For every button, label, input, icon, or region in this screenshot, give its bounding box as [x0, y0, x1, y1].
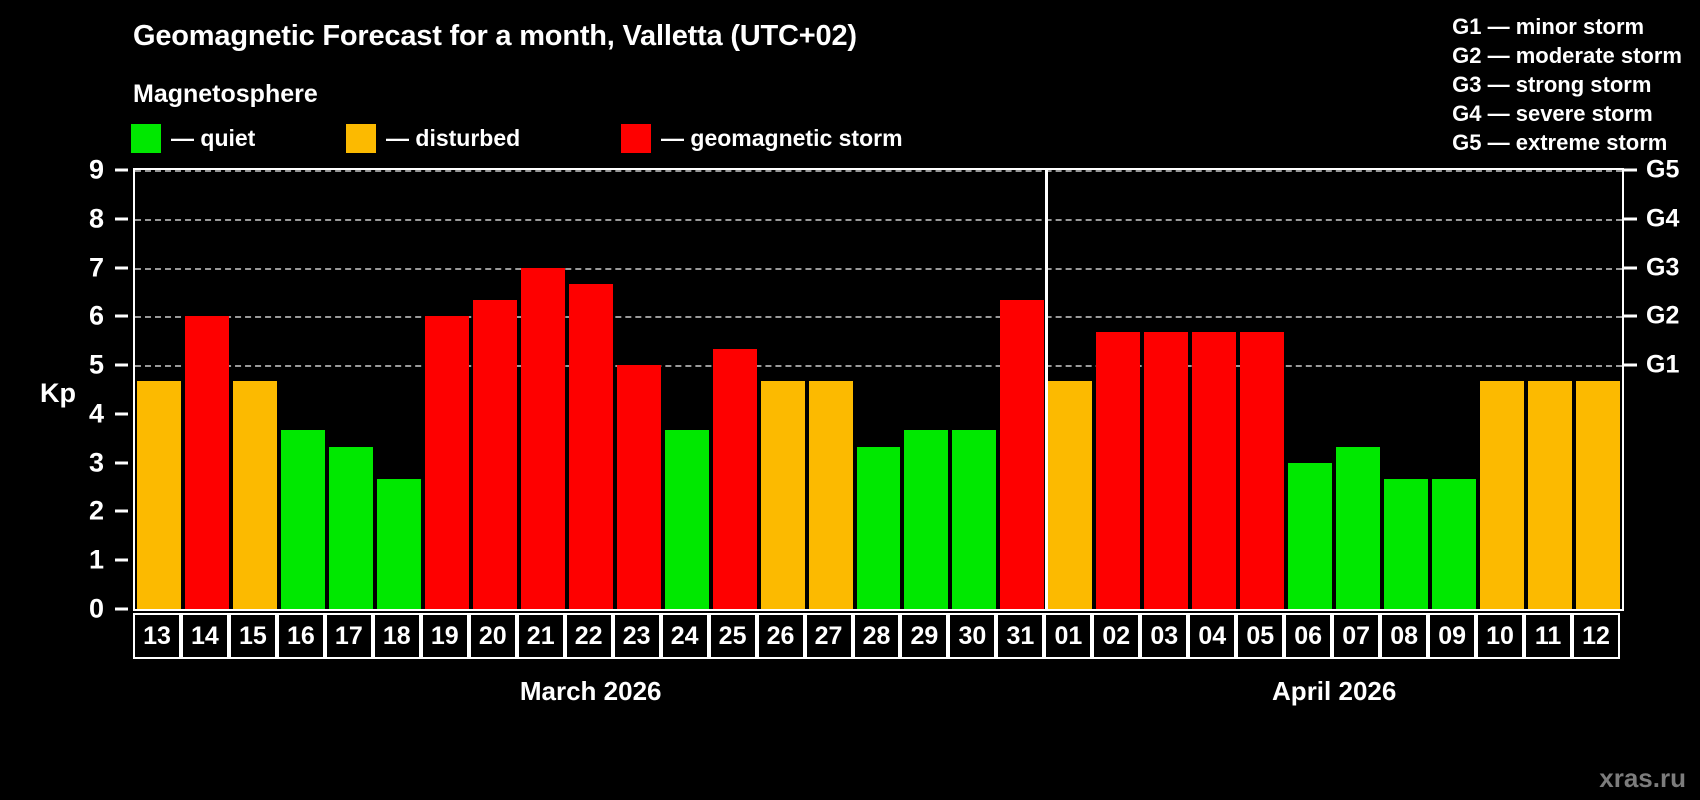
magnetosphere-label: Magnetosphere	[133, 80, 318, 109]
day-cell-27[interactable]: 27	[805, 613, 853, 659]
bar-03[interactable]	[1144, 332, 1188, 609]
bar-24[interactable]	[665, 430, 709, 609]
bars-layer	[135, 170, 1622, 609]
day-cell-05[interactable]: 05	[1236, 613, 1284, 659]
day-cell-28[interactable]: 28	[853, 613, 901, 659]
day-cell-16[interactable]: 16	[277, 613, 325, 659]
g-scale-legend: G1 — minor stormG2 — moderate stormG3 — …	[1452, 12, 1682, 157]
y-axis-labels: 0123456789	[0, 168, 128, 611]
bar-01[interactable]	[1048, 381, 1092, 609]
y-tick-mark-8	[115, 217, 128, 220]
y-tick-label-1: 1	[89, 545, 104, 576]
bar-27[interactable]	[809, 381, 853, 609]
day-cell-26[interactable]: 26	[757, 613, 805, 659]
y-tick-label-0: 0	[89, 594, 104, 625]
day-cell-18[interactable]: 18	[373, 613, 421, 659]
bar-28[interactable]	[857, 447, 901, 609]
g-axis-labels: G1G2G3G4G5	[1624, 168, 1700, 611]
g-axis-label-G3: G3	[1646, 253, 1679, 282]
bar-02[interactable]	[1096, 332, 1140, 609]
bar-31[interactable]	[1000, 300, 1044, 609]
g-axis-tick-G4	[1624, 217, 1637, 220]
bar-22[interactable]	[569, 284, 613, 609]
day-cell-02[interactable]: 02	[1092, 613, 1140, 659]
legend-item-storm: — geomagnetic storm	[621, 124, 903, 153]
bar-25[interactable]	[713, 349, 757, 609]
day-cell-13[interactable]: 13	[133, 613, 181, 659]
y-tick-mark-6	[115, 315, 128, 318]
legend-label-quiet: — quiet	[171, 124, 255, 153]
day-cell-25[interactable]: 25	[709, 613, 757, 659]
g-axis-tick-G2	[1624, 315, 1637, 318]
day-cell-01[interactable]: 01	[1044, 613, 1092, 659]
legend-swatch-disturbed-icon	[346, 124, 376, 153]
y-tick-mark-4	[115, 412, 128, 415]
day-cell-08[interactable]: 08	[1380, 613, 1428, 659]
day-cell-10[interactable]: 10	[1476, 613, 1524, 659]
y-tick-label-3: 3	[89, 447, 104, 478]
day-cell-04[interactable]: 04	[1188, 613, 1236, 659]
y-tick-mark-9	[115, 169, 128, 172]
day-cell-23[interactable]: 23	[613, 613, 661, 659]
day-cell-29[interactable]: 29	[900, 613, 948, 659]
legend-swatch-storm-icon	[621, 124, 651, 153]
bar-04[interactable]	[1192, 332, 1236, 609]
y-tick-label-7: 7	[89, 252, 104, 283]
day-cell-12[interactable]: 12	[1572, 613, 1620, 659]
watermark: xras.ru	[1599, 763, 1686, 794]
day-cell-15[interactable]: 15	[229, 613, 277, 659]
bar-16[interactable]	[281, 430, 325, 609]
legend-label-disturbed: — disturbed	[386, 124, 520, 153]
y-tick-mark-3	[115, 461, 128, 464]
g-axis-label-G1: G1	[1646, 351, 1679, 380]
g-axis-label-G4: G4	[1646, 204, 1679, 233]
y-tick-label-2: 2	[89, 496, 104, 527]
day-axis: 1314151617181920212223242526272829303101…	[133, 613, 1624, 659]
g-scale-row-5: G5 — extreme storm	[1452, 128, 1682, 157]
bar-15[interactable]	[233, 381, 277, 609]
y-tick-mark-1	[115, 559, 128, 562]
month-caption-2: April 2026	[1046, 676, 1622, 707]
g-axis-tick-G3	[1624, 266, 1637, 269]
page-title: Geomagnetic Forecast for a month, Vallet…	[133, 20, 857, 53]
y-tick-mark-2	[115, 510, 128, 513]
y-tick-mark-0	[115, 608, 128, 611]
bar-06[interactable]	[1288, 463, 1332, 609]
plot-inner	[135, 170, 1622, 609]
day-cell-07[interactable]: 07	[1332, 613, 1380, 659]
bar-12[interactable]	[1576, 381, 1620, 609]
bar-13[interactable]	[137, 381, 181, 609]
day-cell-20[interactable]: 20	[469, 613, 517, 659]
legend-item-disturbed: — disturbed	[346, 124, 520, 153]
bar-26[interactable]	[761, 381, 805, 609]
g-axis-tick-G5	[1624, 169, 1637, 172]
g-axis-tick-G1	[1624, 364, 1637, 367]
g-scale-row-3: G3 — strong storm	[1452, 70, 1682, 99]
day-cell-17[interactable]: 17	[325, 613, 373, 659]
bar-09[interactable]	[1432, 479, 1476, 609]
bar-21[interactable]	[521, 268, 565, 609]
g-axis-label-G5: G5	[1646, 156, 1679, 185]
y-tick-label-5: 5	[89, 350, 104, 381]
month-caption-1: March 2026	[135, 676, 1046, 707]
bar-07[interactable]	[1336, 447, 1380, 609]
legend-swatch-quiet-icon	[131, 124, 161, 153]
day-cell-03[interactable]: 03	[1140, 613, 1188, 659]
day-cell-31[interactable]: 31	[996, 613, 1044, 659]
day-cell-14[interactable]: 14	[181, 613, 229, 659]
bar-20[interactable]	[473, 300, 517, 609]
bar-29[interactable]	[904, 430, 948, 609]
y-tick-mark-7	[115, 266, 128, 269]
bar-18[interactable]	[377, 479, 421, 609]
day-cell-24[interactable]: 24	[661, 613, 709, 659]
legend-label-storm: — geomagnetic storm	[661, 124, 903, 153]
day-cell-30[interactable]: 30	[948, 613, 996, 659]
bar-08[interactable]	[1384, 479, 1428, 609]
bar-05[interactable]	[1240, 332, 1284, 609]
bar-11[interactable]	[1528, 381, 1572, 609]
y-tick-label-9: 9	[89, 155, 104, 186]
legend-item-quiet: — quiet	[131, 124, 255, 153]
g-scale-row-4: G4 — severe storm	[1452, 99, 1682, 128]
g-scale-row-2: G2 — moderate storm	[1452, 41, 1682, 70]
y-tick-label-6: 6	[89, 301, 104, 332]
bar-10[interactable]	[1480, 381, 1524, 609]
day-cell-21[interactable]: 21	[517, 613, 565, 659]
day-cell-22[interactable]: 22	[565, 613, 613, 659]
bar-14[interactable]	[185, 316, 229, 609]
bar-30[interactable]	[952, 430, 996, 609]
y-tick-label-8: 8	[89, 203, 104, 234]
g-axis-label-G2: G2	[1646, 302, 1679, 331]
y-tick-label-4: 4	[89, 398, 104, 429]
y-tick-mark-5	[115, 364, 128, 367]
bar-19[interactable]	[425, 316, 469, 609]
day-cell-11[interactable]: 11	[1524, 613, 1572, 659]
month-divider	[1045, 170, 1048, 609]
day-cell-09[interactable]: 09	[1428, 613, 1476, 659]
day-cell-19[interactable]: 19	[421, 613, 469, 659]
g-scale-row-1: G1 — minor storm	[1452, 12, 1682, 41]
bar-23[interactable]	[617, 365, 661, 609]
day-cell-06[interactable]: 06	[1284, 613, 1332, 659]
bar-17[interactable]	[329, 447, 373, 609]
plot-area	[133, 168, 1624, 611]
